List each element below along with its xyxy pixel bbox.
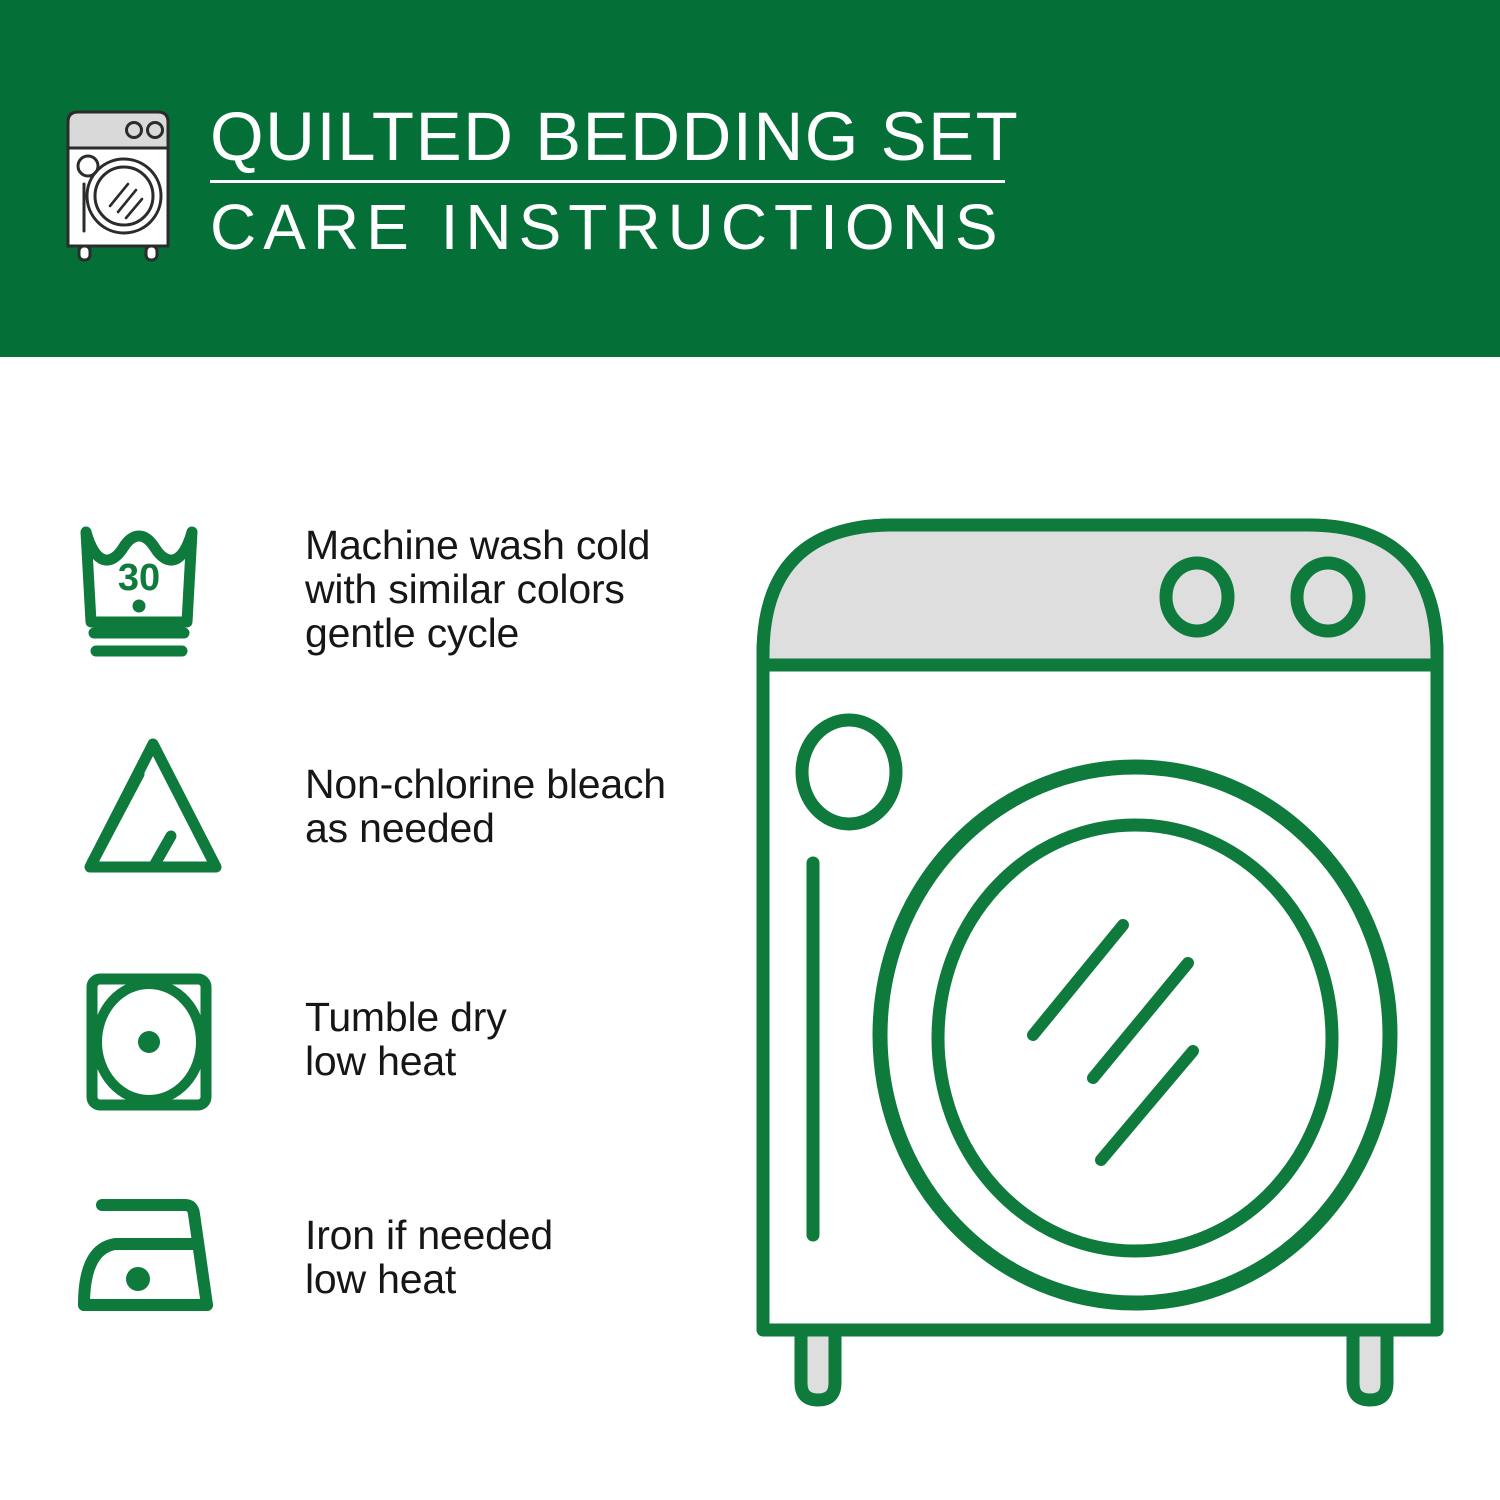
- header-content: QUILTED BEDDING SET CARE INSTRUCTIONS: [58, 98, 1058, 273]
- list-item: 30 Machine wash cold with similar colors…: [75, 517, 715, 667]
- tumble-dry-low-heat-icon: [75, 967, 235, 1117]
- front-load-washing-machine-illustration: [745, 495, 1455, 1420]
- list-item-label: Machine wash cold with similar colors ge…: [305, 517, 650, 655]
- list-item: Non-chlorine bleach as needed: [75, 732, 715, 882]
- wash-temperature-value: 30: [118, 557, 160, 599]
- care-instructions-list: 30 Machine wash cold with similar colors…: [0, 357, 730, 1500]
- leg-left: [801, 1330, 835, 1400]
- header-title-block: QUILTED BEDDING SET CARE INSTRUCTIONS: [210, 98, 1058, 261]
- non-chlorine-bleach-triangle-icon: [75, 732, 235, 882]
- list-item-label: Tumble dry low heat: [305, 967, 507, 1083]
- control-panel: [763, 525, 1437, 665]
- page-title: QUILTED BEDDING SET: [210, 100, 1058, 174]
- title-divider: [210, 180, 1005, 183]
- list-item: Tumble dry low heat: [75, 967, 715, 1117]
- machine-wash-30-gentle-icon: 30: [75, 517, 235, 667]
- leg-right: [1353, 1330, 1387, 1400]
- list-item-label: Iron if needed low heat: [305, 1187, 553, 1301]
- header-banner: QUILTED BEDDING SET CARE INSTRUCTIONS: [0, 0, 1500, 357]
- iron-low-heat-icon: [75, 1187, 235, 1337]
- washing-machine-icon: [58, 104, 186, 264]
- list-item: Iron if needed low heat: [75, 1187, 715, 1337]
- page-subtitle: CARE INSTRUCTIONS: [210, 193, 1058, 261]
- list-item-label: Non-chlorine bleach as needed: [305, 732, 666, 850]
